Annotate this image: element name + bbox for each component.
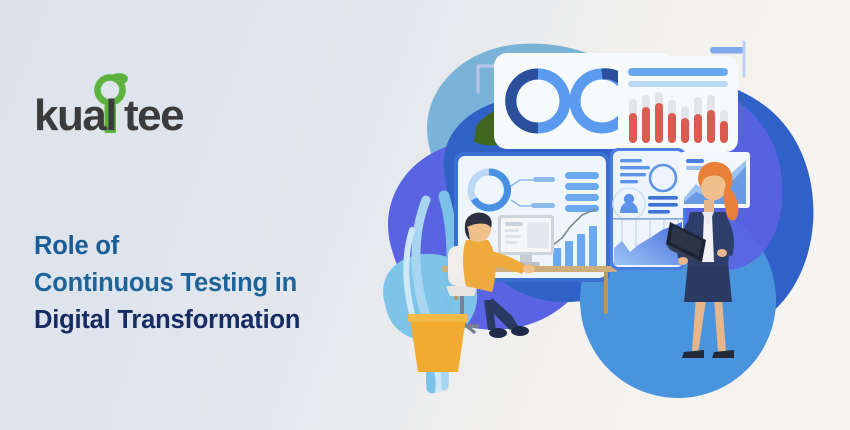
headline: Role of Continuous Testing in Digital Tr…: [34, 228, 424, 339]
card-title-bar: [628, 68, 728, 76]
banner-root: kual tee Role of Continuous Testing in D…: [0, 0, 850, 430]
headline-line-2: Continuous Testing in: [34, 265, 424, 302]
illustration-svg: [370, 0, 850, 430]
headline-line-3: Digital Transformation: [34, 302, 424, 339]
bar-chart-card[interactable]: [618, 56, 738, 152]
logo[interactable]: kual tee: [30, 72, 230, 134]
card-subtitle-bar: [628, 81, 728, 87]
headline-line-1: Role of: [34, 228, 424, 265]
illustration: [370, 0, 850, 430]
potted-plant: [408, 314, 468, 372]
logo-wordmark-left: kual: [34, 91, 116, 134]
logo-svg: kual tee: [30, 72, 230, 134]
logo-wordmark-right: tee: [124, 91, 183, 134]
